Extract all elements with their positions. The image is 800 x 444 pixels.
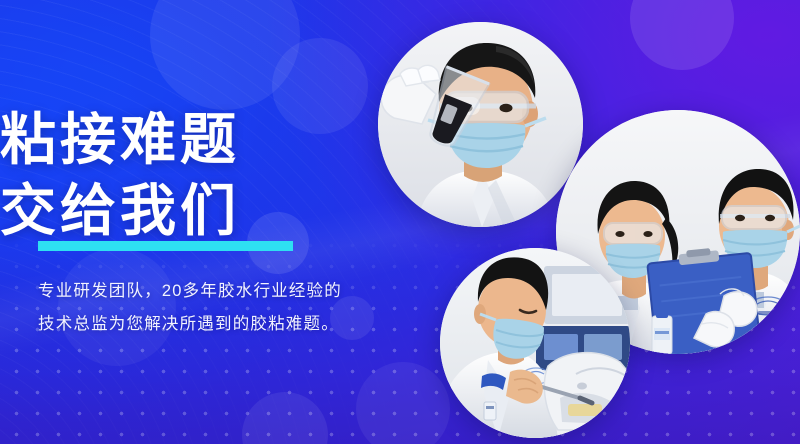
photo-technician-applying-adhesive: [440, 248, 630, 438]
bokeh-circle: [630, 0, 734, 70]
bokeh-circle: [242, 392, 328, 444]
promo-banner: 粘接难题 交给我们 专业研发团队，20多年胶水行业经验的 技术总监为您解决所遇到…: [0, 0, 800, 444]
bokeh-circle: [150, 0, 300, 110]
photo-chemist-holding-beaker: [378, 22, 583, 227]
headline-line-2: 交给我们: [0, 183, 240, 239]
headline-underline-bar: [38, 241, 293, 251]
headline-line-1: 粘接难题: [0, 112, 240, 168]
bokeh-circle: [356, 362, 450, 444]
subtitle-line-1: 专业研发团队，20多年胶水行业经验的: [38, 275, 342, 308]
subtitle-line-2: 技术总监为您解决所遇到的胶粘难题。: [38, 308, 339, 341]
bokeh-circle: [272, 38, 368, 134]
